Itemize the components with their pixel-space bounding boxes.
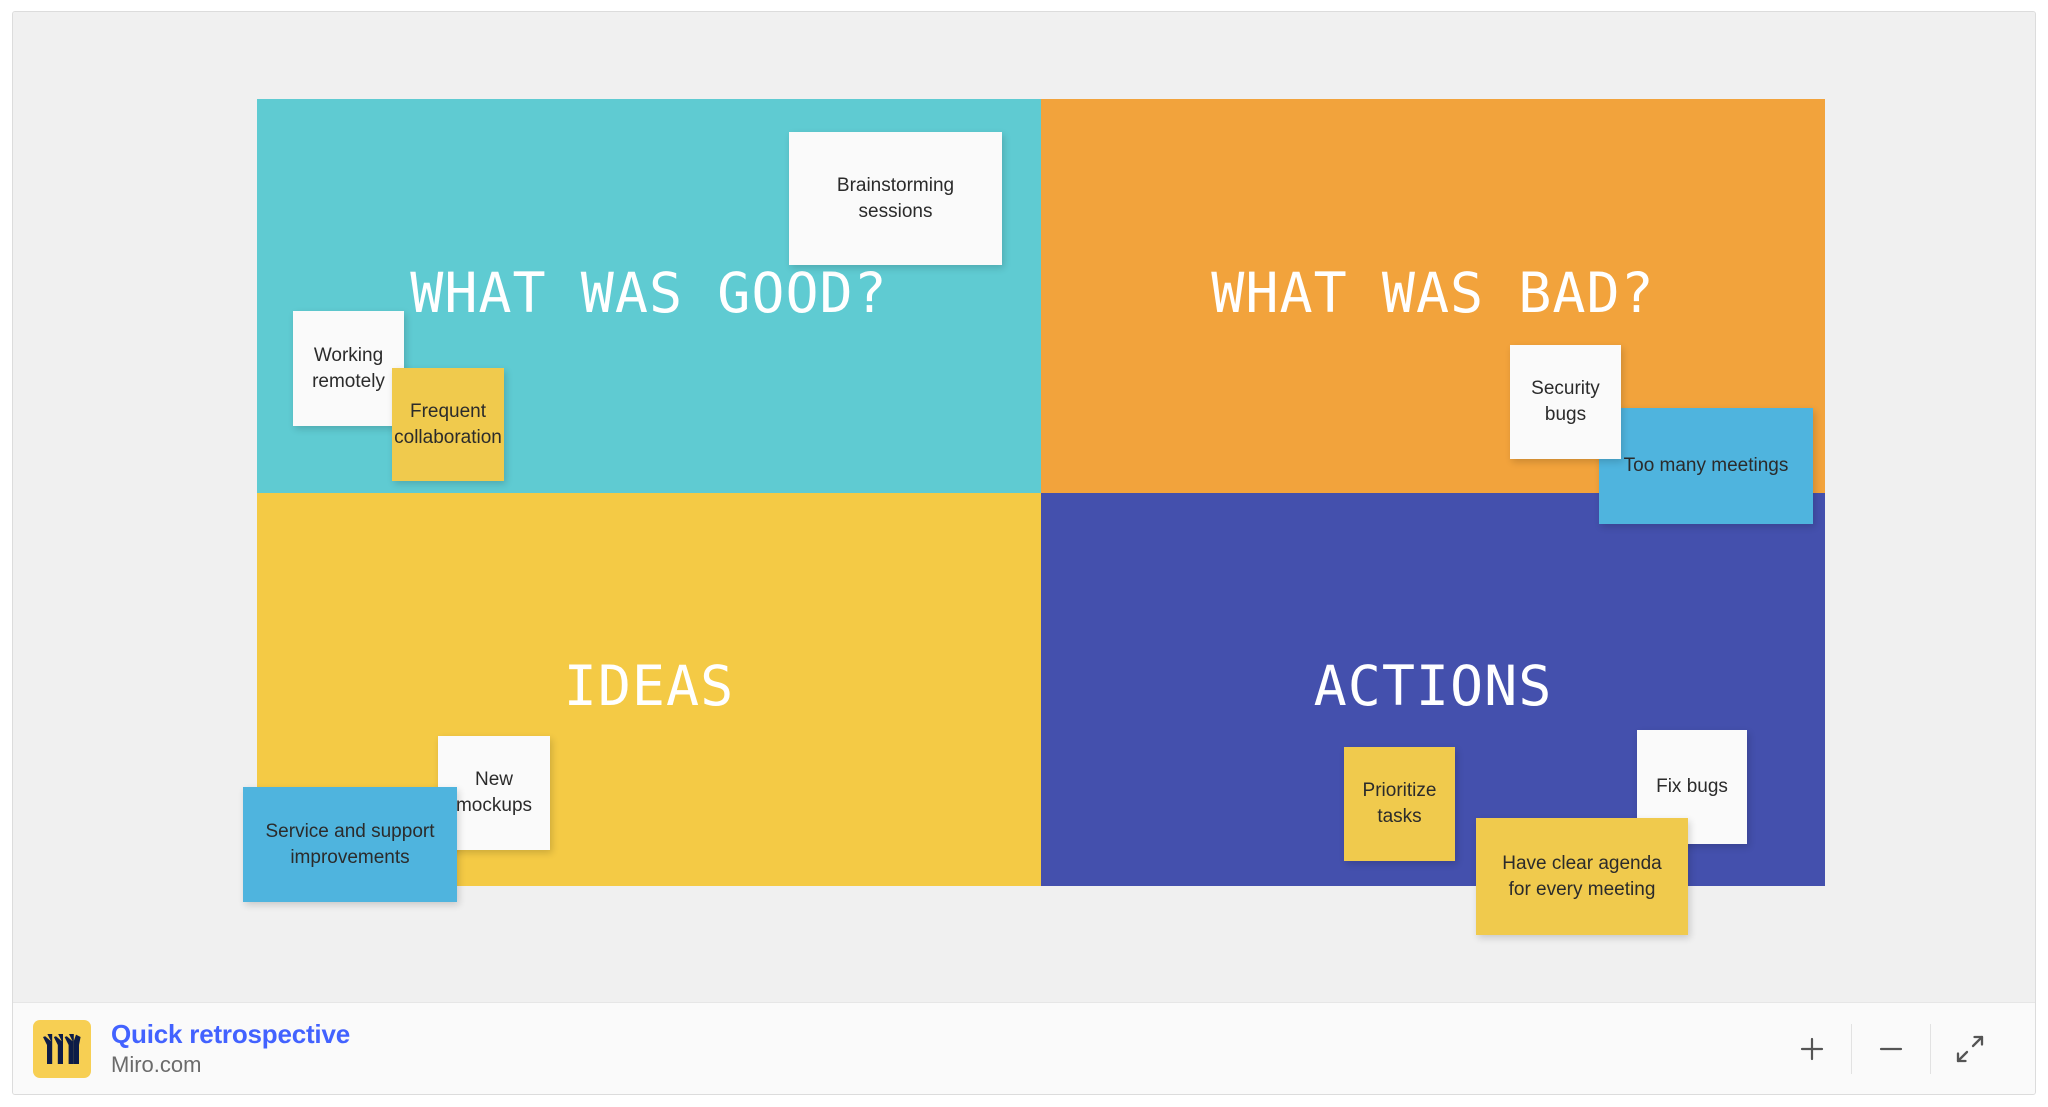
sticky-note-service-and-support-improvements[interactable]: Service and support improvements	[243, 787, 457, 902]
quadrant-title-good: WHAT WAS GOOD?	[410, 261, 888, 325]
board-source-domain: Miro.com	[111, 1053, 350, 1077]
zoom-in-button[interactable]	[1773, 1020, 1851, 1078]
sticky-note-prioritize-tasks[interactable]: Prioritize tasks	[1344, 747, 1455, 861]
quadrant-title-ideas: IDEAS	[564, 654, 735, 718]
board-zoom-controls	[1773, 1020, 2035, 1078]
sticky-note-security-bugs[interactable]: Security bugs	[1510, 345, 1621, 459]
board-meta: Quick retrospective Miro.com	[111, 1020, 350, 1077]
sticky-note-working-remotely[interactable]: Working remotely	[293, 311, 404, 426]
embed-footer-bar: Quick retrospective Miro.com	[13, 1002, 2035, 1094]
quadrant-title-bad: WHAT WAS BAD?	[1211, 261, 1654, 325]
board-canvas[interactable]: WHAT WAS GOOD? WHAT WAS BAD? IDEAS ACTIO…	[13, 12, 2035, 1002]
sticky-note-brainstorming-sessions[interactable]: Brainstorming sessions	[789, 132, 1002, 265]
sticky-note-too-many-meetings[interactable]: Too many meetings	[1599, 408, 1813, 524]
sticky-note-frequent-collaboration[interactable]: Frequent collaboration	[392, 368, 504, 481]
miro-logo-icon	[33, 1020, 91, 1078]
fullscreen-expand-icon[interactable]	[1931, 1020, 2009, 1078]
footer-controls-spacer	[2009, 1020, 2035, 1078]
zoom-out-button[interactable]	[1852, 1020, 1930, 1078]
miro-embed-card: WHAT WAS GOOD? WHAT WAS BAD? IDEAS ACTIO…	[12, 11, 2036, 1095]
sticky-note-have-clear-agenda-for-every-meeting[interactable]: Have clear agenda for every meeting	[1476, 818, 1688, 935]
quadrant-title-actions: ACTIONS	[1314, 654, 1553, 718]
board-title-link[interactable]: Quick retrospective	[111, 1020, 350, 1049]
